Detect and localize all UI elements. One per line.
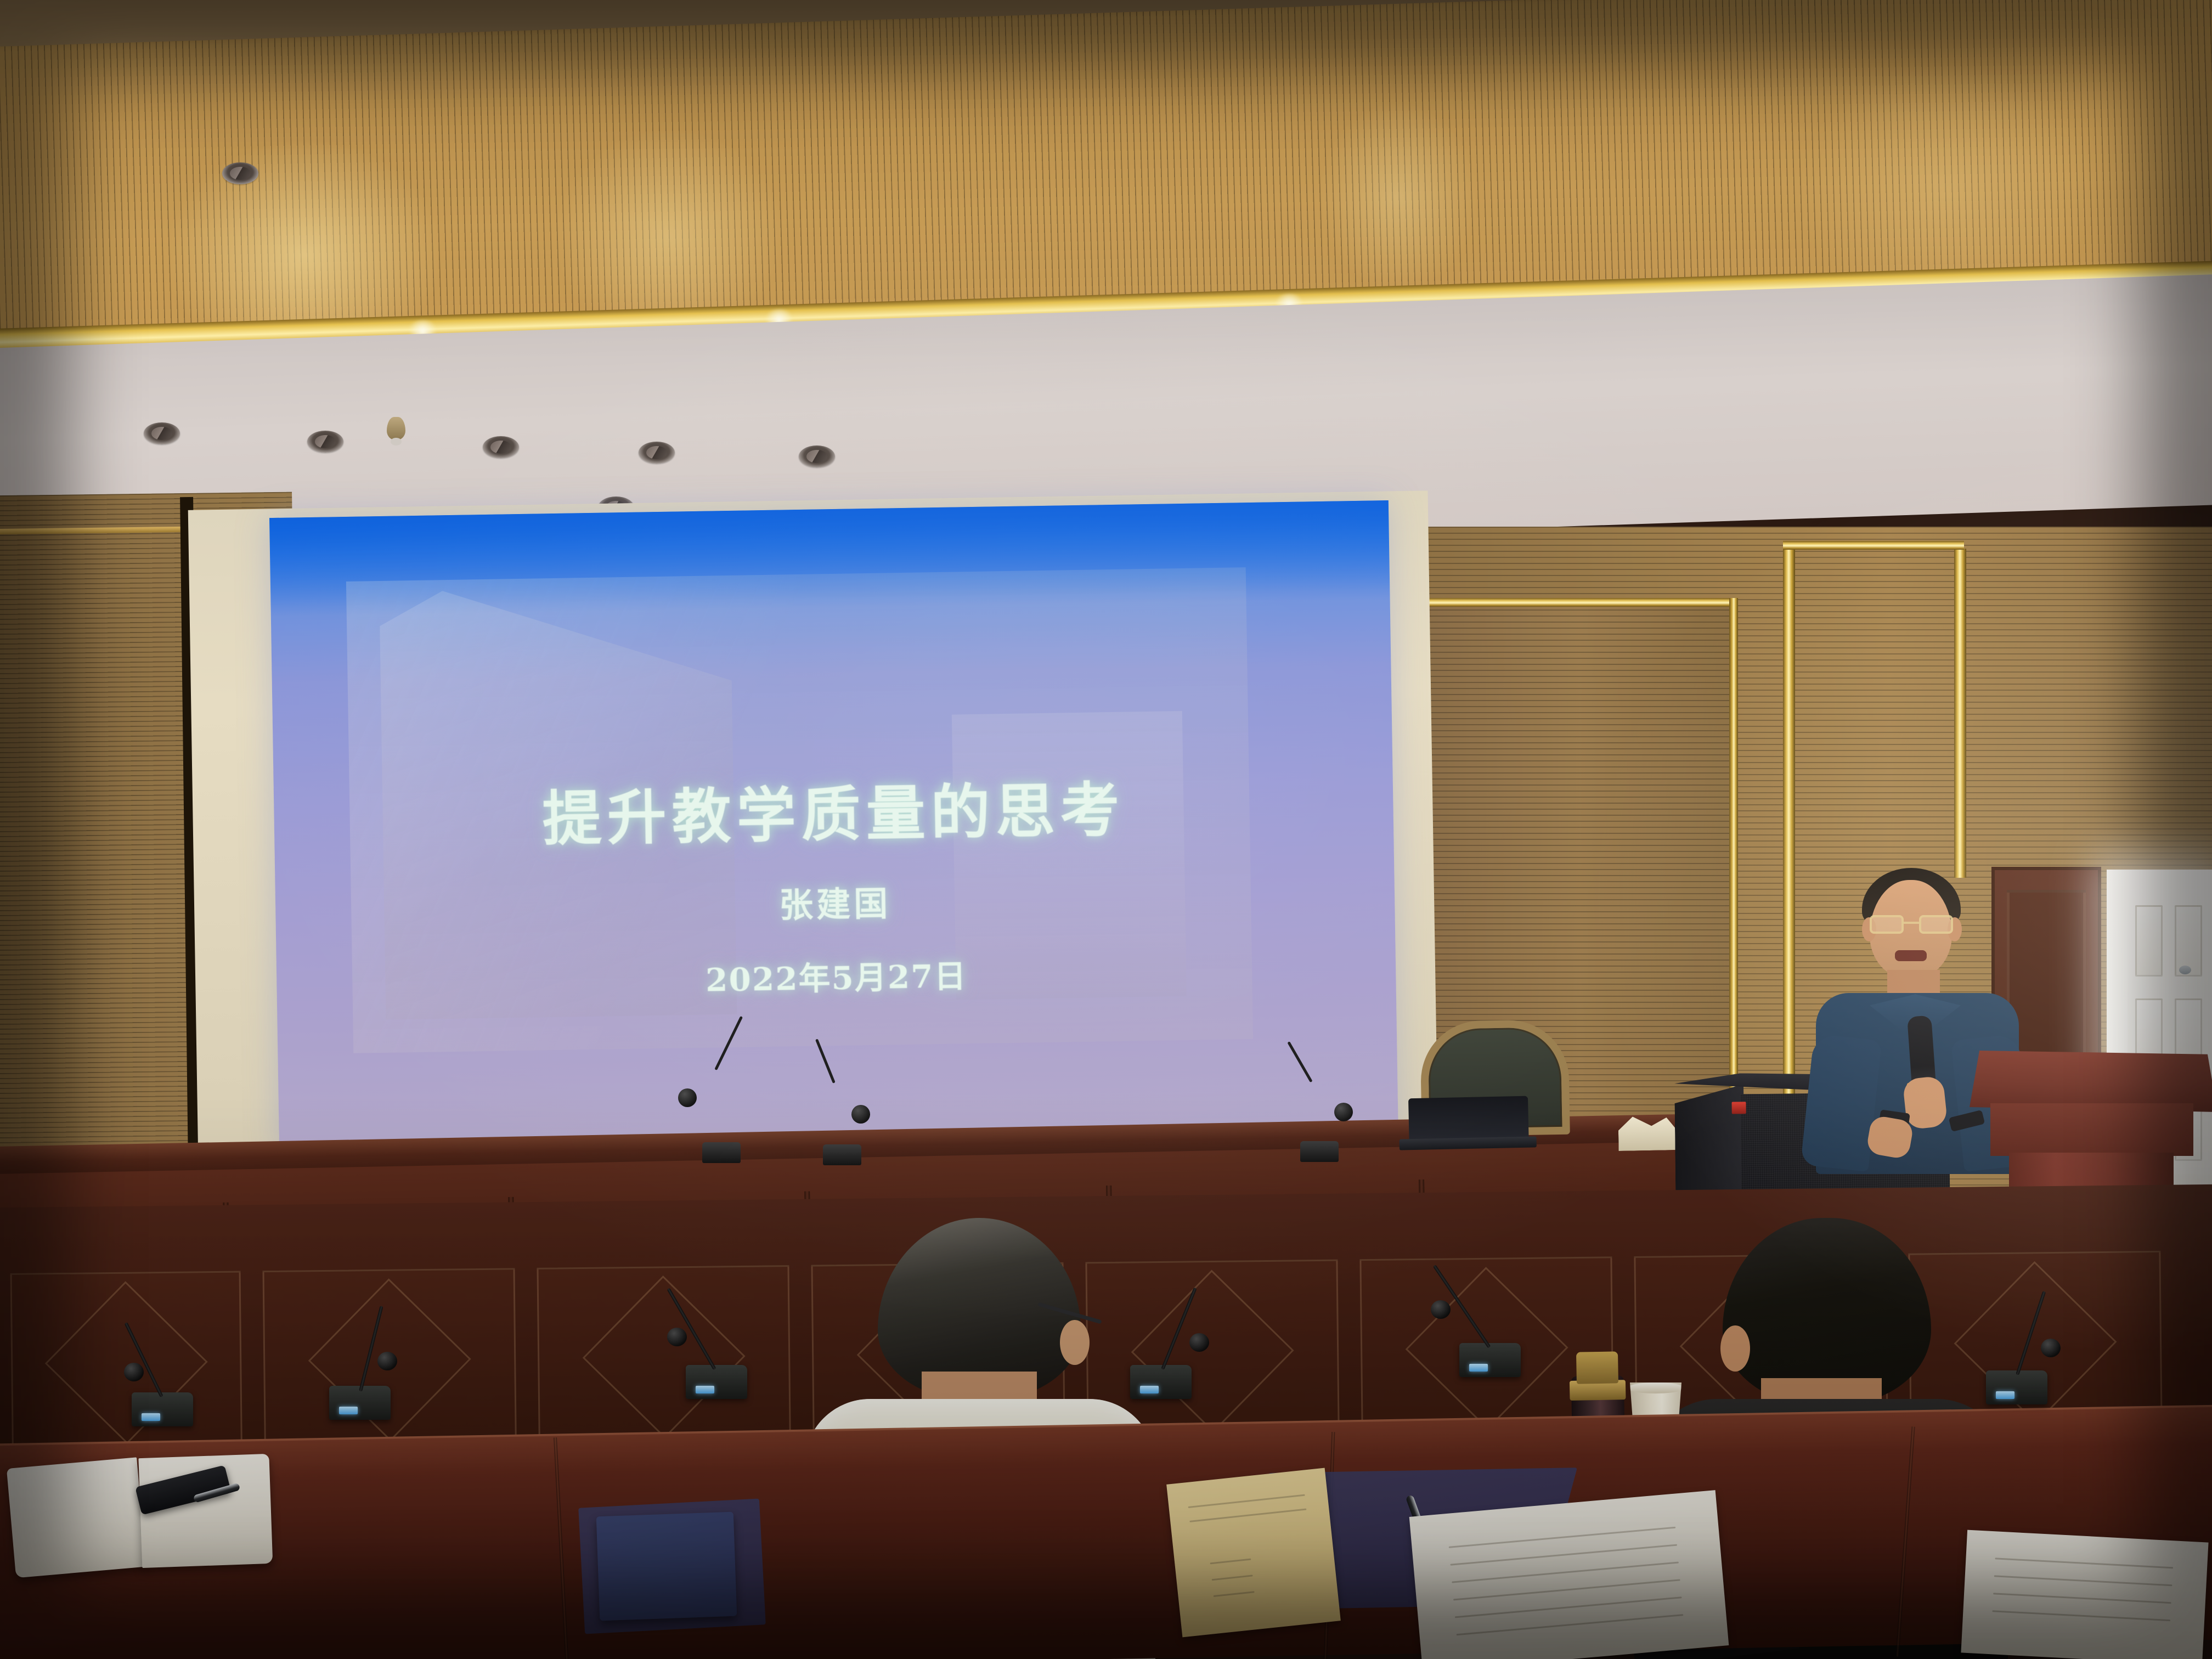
audience-desk	[0, 1407, 2212, 1659]
booklet-page-left	[7, 1457, 146, 1578]
slide-title: 提升教学质量的思考	[541, 763, 1125, 857]
speaker-brand-badge	[1732, 1102, 1746, 1114]
blue-folder[interactable]	[596, 1512, 737, 1621]
audience-hair	[1723, 1218, 1931, 1404]
downlight-icon	[222, 162, 258, 184]
gold-frame-top	[1424, 598, 1738, 607]
glasses-icon	[1870, 915, 1953, 934]
printed-documents[interactable]	[1409, 1490, 1729, 1659]
presenter-hand-right	[1902, 1075, 1948, 1130]
downlight-icon	[799, 445, 835, 467]
downlight-icon	[483, 436, 519, 458]
presenter-mouth	[1895, 950, 1927, 961]
printed-documents[interactable]	[1961, 1530, 2208, 1659]
wall-panel	[537, 1265, 791, 1449]
slide-text-block: 提升教学质量的思考 张建国 2022年5月27日	[269, 500, 1398, 1154]
slide-date: 2022年5月27日	[705, 950, 967, 1000]
presentation-laptop	[1398, 1096, 1537, 1151]
open-booklet[interactable]	[8, 1453, 277, 1576]
sprinkler-icon	[387, 417, 405, 440]
downlight-icon	[307, 431, 343, 453]
gold-pilaster	[1954, 549, 1966, 878]
yellow-booklet[interactable]	[1166, 1468, 1341, 1638]
downlight-icon	[144, 422, 180, 444]
wall-panel	[10, 1271, 242, 1454]
conference-hall-photo: 提升教学质量的思考 张建国 2022年5月27日	[0, 0, 2212, 1659]
downlight-icon	[639, 442, 675, 464]
gold-frame-top	[1783, 541, 1964, 550]
projection-screen: 提升教学质量的思考 张建国 2022年5月27日	[269, 500, 1398, 1154]
door-knob-icon[interactable]	[2179, 966, 2191, 974]
slide-author: 张建国	[778, 876, 891, 927]
